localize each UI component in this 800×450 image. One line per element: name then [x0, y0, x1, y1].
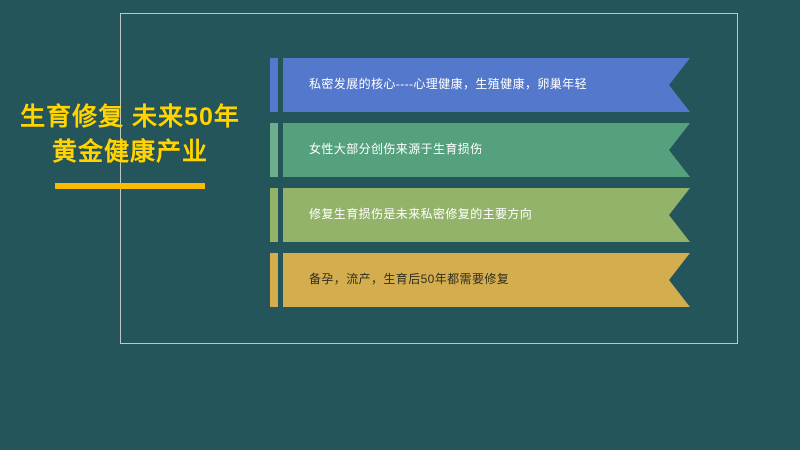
ribbon-body-3[interactable]: 修复生育损伤是未来私密修复的主要方向 [283, 188, 690, 242]
ribbon-accent-bar-2 [270, 123, 278, 177]
ribbon-body-2[interactable]: 女性大部分创伤来源于生育损伤 [283, 123, 690, 177]
ribbon-item-2[interactable]: 女性大部分创伤来源于生育损伤 [270, 123, 690, 177]
ribbon-body-4[interactable]: 备孕，流产，生育后50年都需要修复 [283, 253, 690, 307]
ribbon-list: 私密发展的核心----心理健康，生殖健康，卵巢年轻 女性大部分创伤来源于生育损伤… [270, 58, 690, 307]
ribbon-accent-bar-4 [270, 253, 278, 307]
ribbon-label-2: 女性大部分创伤来源于生育损伤 [283, 142, 517, 158]
ribbon-item-3[interactable]: 修复生育损伤是未来私密修复的主要方向 [270, 188, 690, 242]
ribbon-gap-1 [278, 58, 283, 112]
slide-canvas: 生育修复 未来50年黄金健康产业 私密发展的核心----心理健康，生殖健康，卵巢… [0, 0, 800, 450]
ribbon-gap-4 [278, 253, 283, 307]
ribbon-item-4[interactable]: 备孕，流产，生育后50年都需要修复 [270, 253, 690, 307]
ribbon-item-1[interactable]: 私密发展的核心----心理健康，生殖健康，卵巢年轻 [270, 58, 690, 112]
ribbon-label-1: 私密发展的核心----心理健康，生殖健康，卵巢年轻 [283, 77, 621, 93]
page-title: 生育修复 未来50年黄金健康产业 [20, 100, 240, 169]
ribbon-accent-bar-3 [270, 188, 278, 242]
ribbon-label-4: 备孕，流产，生育后50年都需要修复 [283, 272, 543, 288]
title-underline [55, 183, 205, 189]
ribbon-gap-2 [278, 123, 283, 177]
ribbon-body-1[interactable]: 私密发展的核心----心理健康，生殖健康，卵巢年轻 [283, 58, 690, 112]
title-block: 生育修复 未来50年黄金健康产业 [20, 100, 240, 189]
ribbon-accent-bar-1 [270, 58, 278, 112]
ribbon-label-3: 修复生育损伤是未来私密修复的主要方向 [283, 207, 566, 223]
ribbon-gap-3 [278, 188, 283, 242]
